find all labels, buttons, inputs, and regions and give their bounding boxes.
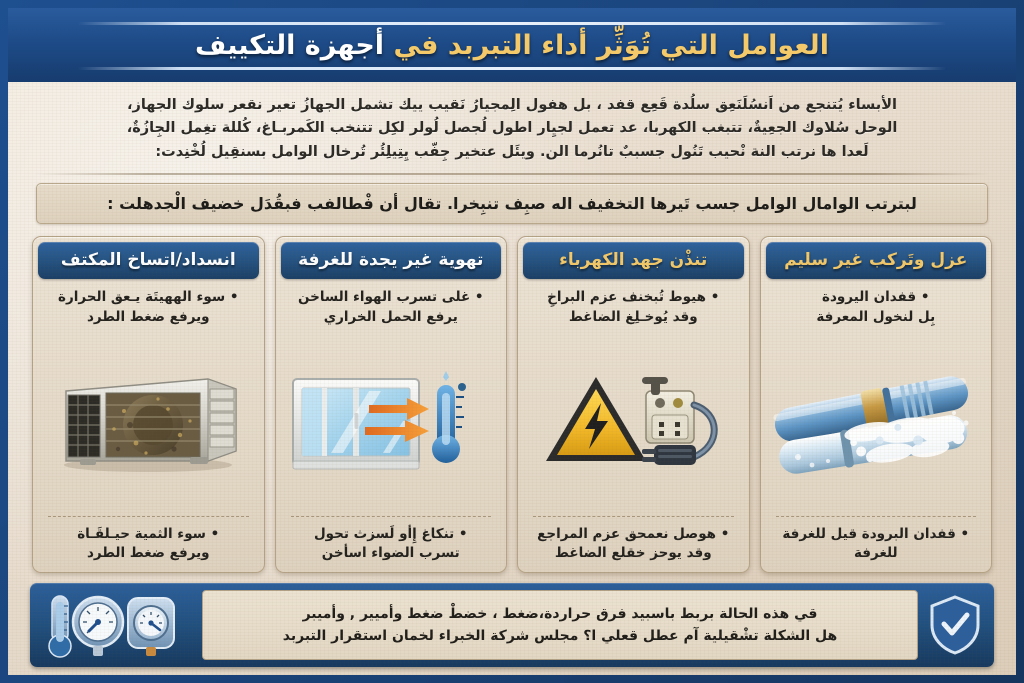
- outdoor-condenser-unit: [66, 379, 236, 465]
- section-divider: [34, 173, 990, 175]
- electric-socket: [642, 377, 694, 443]
- intro-paragraph: الأبساء يُتنجع من اَنسُلَنَعِق سلُدة قَع…: [30, 92, 994, 164]
- card-insulation-header: عزل وتَركب غير سليم: [766, 242, 987, 279]
- footer-message: قي هذه الحالة بربط باسبيد فرق حراردة،ضغط…: [202, 590, 918, 660]
- page-title-white: أجهزة التكييف: [195, 30, 384, 61]
- card-condenser-top-line-2: ويرفع ضغط الطرد: [44, 308, 253, 328]
- dirty-condenser-illustration: [38, 330, 259, 512]
- card-voltage-top-line-2: وقد يُوخـلِغ الضاغط: [529, 308, 738, 328]
- card-ventilation-top-bullet: غلى تسرب الهواء الساخن يرفع الحمل الخرار…: [281, 279, 502, 329]
- thermometer-icon: [432, 371, 466, 463]
- pressure-gauge-icon: [128, 598, 174, 656]
- thermometer-icon: [49, 596, 71, 657]
- card-condenser-bottom-line-1: سوء الثمية حيـلقَـاة: [44, 525, 253, 545]
- card-ventilation-header: تهوية غير يجدة للغرفة: [281, 242, 502, 279]
- factor-cards-row: عزل وتَركب غير سليم قفدان اليرودة بِل لن…: [30, 236, 994, 573]
- card-voltage-bottom-bullet: هوصل نعمحق عزم المراجع وقد يوحز خقلع الض…: [523, 517, 744, 566]
- measuring-tools-icons: [42, 590, 192, 660]
- electric-plug: [642, 445, 696, 465]
- card-condenser-header: انسداد/اتساخ المكتف: [38, 242, 259, 279]
- intro-line-3: لَعدا ها نرتب النة نْحيب تَنُول جسببٌ تا…: [76, 141, 948, 164]
- window-heat-illustration: [281, 330, 502, 512]
- infographic-poster: العوامل التي تُوَثِّر أداء التبربد في أج…: [0, 0, 1024, 683]
- card-ventilation-bottom-line-2: تسرب الضواء اسأخن: [287, 544, 496, 564]
- intro-line-2: الوحل سُلاوك الجعِيةٌ، تتبغب الكهربا، عد…: [76, 117, 948, 140]
- shield-check-icon: [928, 594, 982, 656]
- card-voltage-bottom-line-2: وقد يوحز خقلع الضاغط: [529, 544, 738, 564]
- card-condenser[interactable]: انسداد/اتساخ المكتف سوء الههيتَة يـعق ال…: [32, 236, 265, 573]
- card-ventilation-top-line-1: غلى تسرب الهواء الساخن: [287, 288, 496, 308]
- card-ventilation-top-line-2: يرفع الحمل الخراري: [287, 308, 496, 328]
- card-voltage-top-line-1: هيوط تُبخنف عزم البراخِ: [529, 288, 738, 308]
- electric-hazard-sign: [546, 377, 646, 461]
- card-voltage[interactable]: تنذْن جهد الكهرباء هيوط تُبخنف عزم البرا…: [517, 236, 750, 573]
- footer-line-1: قي هذه الحالة بربط باسبيد فرق حراردة،ضغط…: [303, 603, 818, 625]
- card-ventilation-bottom-bullet: تنكاغ إِأو لَسزث تحول تسرب الضواء اسأخن: [281, 517, 502, 566]
- card-condenser-top-bullet: سوء الههيتَة يـعق الحرارة ويرفع ضغط الطر…: [38, 279, 259, 329]
- footer-line-2: هل الشكلة تشْقيلية آم عطل قعلي ا؟ مجلس ش…: [283, 625, 837, 647]
- card-ventilation-bottom-line-1: تنكاغ إِأو لَسزث تحول: [287, 525, 496, 545]
- card-voltage-bottom-line-1: هوصل نعمحق عزم المراجع: [529, 525, 738, 545]
- card-insulation-bottom-line-1: قفدان البرودة قيل للغرفة: [772, 525, 981, 545]
- intro-line-1: الأبساء يُتنجع من اَنسُلَنَعِق سلُدة قَع…: [76, 94, 948, 117]
- card-voltage-top-bullet: هيوط تُبخنف عزم البراخِ وقد يُوخـلِغ الض…: [523, 279, 744, 329]
- card-insulation-top-bullet: قفدان اليرودة بِل لنخول المعرفة: [766, 279, 987, 329]
- card-ventilation[interactable]: تهوية غير يجدة للغرفة غلى تسرب الهواء ال…: [275, 236, 508, 573]
- card-condenser-bottom-bullet: سوء الثمية حيـلقَـاة ويرفع ضغط الطرد: [38, 517, 259, 566]
- paper-sheet: الأبساء يُتنجع من اَنسُلَنَعِق سلُدة قَع…: [8, 82, 1016, 675]
- page-title: العوامل التي تُوَثِّر أداء التبربد في أج…: [195, 30, 829, 61]
- card-insulation-bottom-bullet: قفدان البرودة قيل للغرفة للغرفة: [766, 517, 987, 566]
- card-insulation[interactable]: عزل وتَركب غير سليم قفدان اليرودة بِل لن…: [760, 236, 993, 573]
- card-condenser-bottom-line-2: ويرفع ضغط الطرد: [44, 544, 253, 564]
- window: [293, 379, 419, 469]
- footer-banner: قي هذه الحالة بربط باسبيد فرق حراردة،ضغط…: [30, 583, 994, 667]
- poster-title-bar: العوامل التي تُوَثِّر أداء التبربد في أج…: [8, 8, 1016, 82]
- page-title-gold: العوامل التي تُوَثِّر أداء التبربد في: [393, 30, 829, 61]
- electric-hazard-illustration: [523, 330, 744, 512]
- card-insulation-bottom-line-2: للغرفة: [772, 544, 981, 564]
- card-insulation-top-line-1: قفدان اليرودة: [772, 288, 981, 308]
- subtitle-band: لبترتب الوامال الوامل جسب تَيرها التخفيف…: [36, 183, 988, 224]
- pressure-gauge-icon: [73, 597, 123, 656]
- card-condenser-top-line-1: سوء الههيتَة يـعق الحرارة: [44, 288, 253, 308]
- card-insulation-top-line-2: بِل لنخول المعرفة: [772, 308, 981, 328]
- card-voltage-header: تنذْن جهد الكهرباء: [523, 242, 744, 279]
- frosted-pipes-illustration: [766, 330, 987, 512]
